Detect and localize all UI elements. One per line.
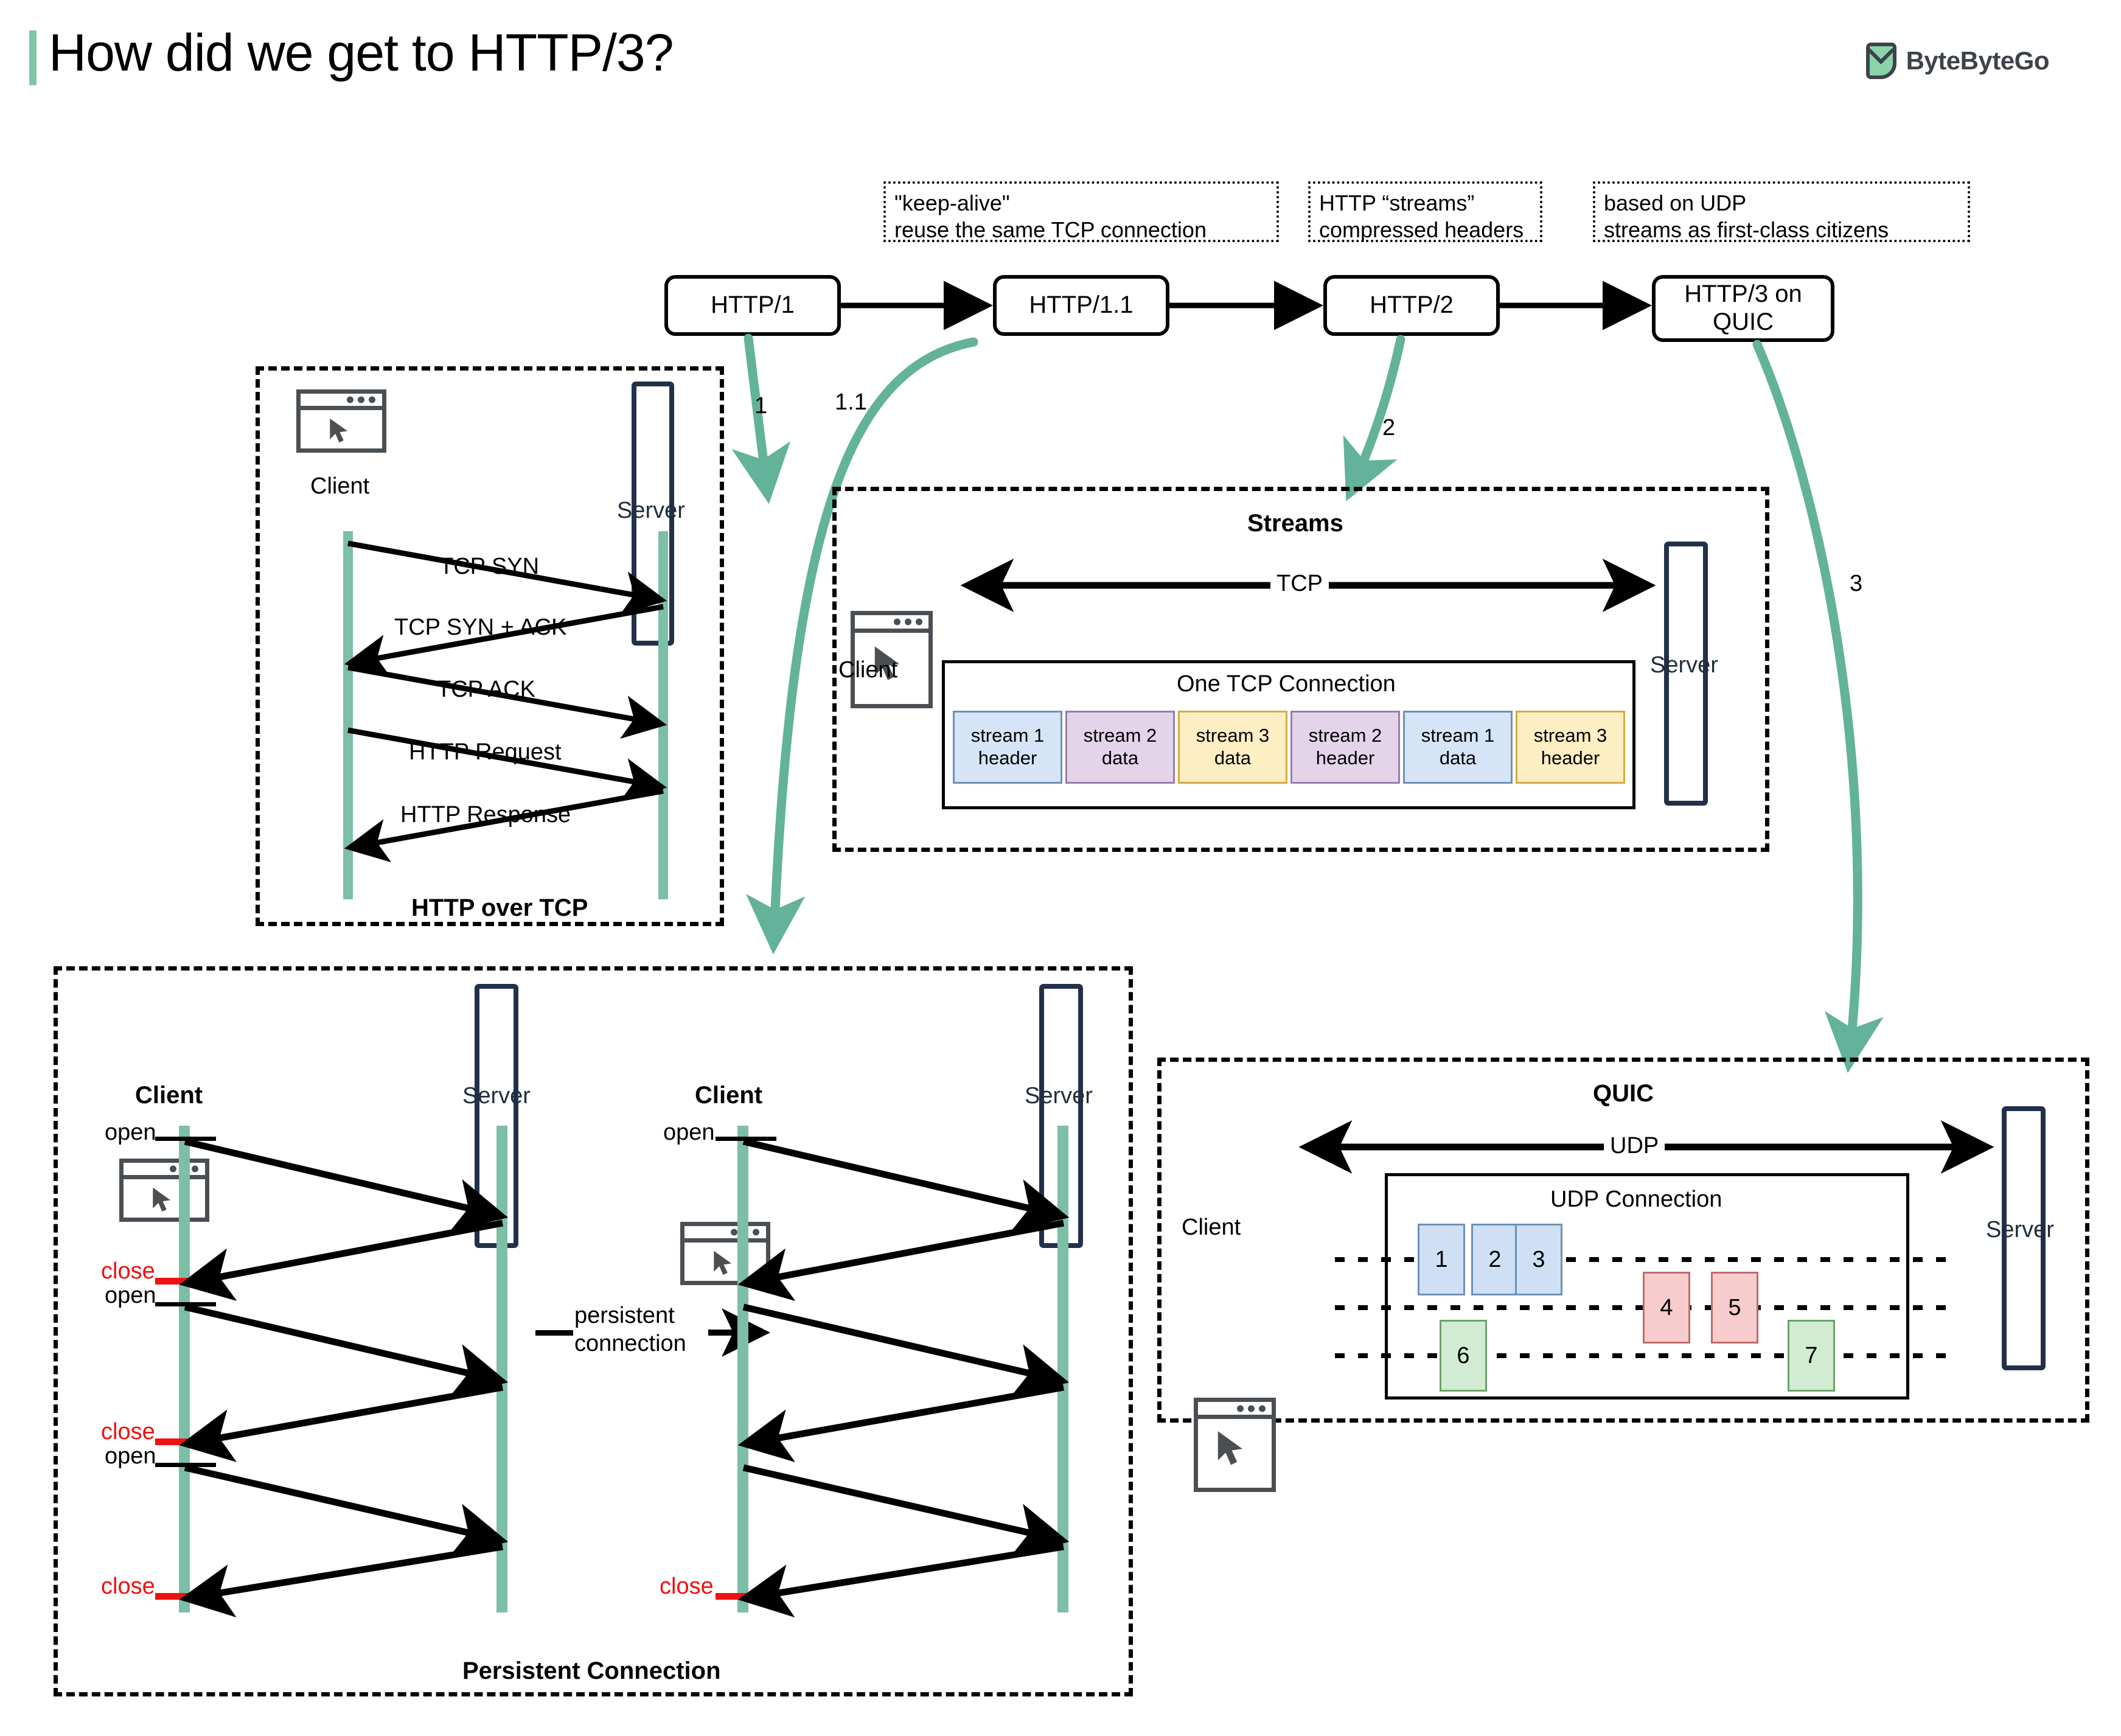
version-box-http3[interactable]: HTTP/3 on QUIC [1652,275,1834,342]
connector-label-3: 3 [1850,571,1862,597]
one-tcp-connection-title: One TCP Connection [1177,671,1396,697]
stream-chip-line2: data [1440,747,1476,770]
stream-chip-line2: header [978,747,1037,770]
client-label-1: Client [310,473,369,500]
connector-label-1: 1 [754,393,767,419]
stream-chip-1: stream 1header [953,711,1062,784]
server-label-5: Server [1986,1217,2054,1243]
browser-titlebar [684,1226,766,1243]
browser-titlebar [855,615,928,633]
close-tick-3 [155,1593,216,1600]
stream-chip-line1: stream 3 [1534,725,1607,747]
event-label-open-2: open [105,1283,156,1309]
page-title: How did we get to HTTP/3? [49,23,674,83]
note-http2: HTTP “streams” compressed headers [1308,181,1542,242]
msg-label-http-response: HTTP Response [400,802,571,828]
cursor-icon [1213,1427,1251,1469]
cursor-icon [706,1249,742,1277]
browser-dots-icon [1237,1405,1266,1412]
open-tick-1 [155,1137,216,1141]
connector-label-2: 2 [1382,415,1395,441]
client-lifeline-3 [179,1126,190,1612]
stream-chip-line1: stream 3 [1196,725,1270,747]
stream-chip-2: stream 2data [1065,711,1175,784]
stream-chip-5: stream 1data [1403,711,1513,784]
msg-label-tcp-syn-ack: TCP SYN + ACK [394,615,566,641]
bytebytego-logo: ByteByteGo [1866,43,2049,79]
open-tick-4 [716,1137,776,1141]
client-label-3: Client [135,1082,203,1109]
close-tick-4 [716,1593,776,1600]
server-lifeline-1 [658,531,668,899]
logo-mark-icon [1866,43,1896,79]
quic-packet-7: 7 [1788,1320,1835,1392]
stream-chip-row: stream 1headerstream 2datastream 3datast… [953,711,1625,784]
client-browser-icon-1 [296,389,386,453]
persistent-dash-mark [535,1330,573,1336]
browser-titlebar [1198,1402,1272,1419]
quic-packet-2: 2 [1471,1224,1519,1295]
event-label-close-3: close [101,1574,155,1600]
event-label-open-4: open [663,1120,715,1146]
close-tick-1 [155,1278,216,1285]
browser-titlebar [124,1163,205,1179]
msg-label-tcp-ack: TCP ACK [437,677,535,703]
event-label-open-3: open [105,1443,156,1469]
open-tick-2 [155,1302,216,1306]
stream-chip-line1: stream 2 [1084,725,1157,747]
streams-caption: Streams [1247,510,1343,537]
version-box-http2[interactable]: HTTP/2 [1323,275,1500,336]
stream-chip-line2: header [1541,747,1600,770]
client-label-2: Client [838,657,897,683]
quic-caption: QUIC [1593,1080,1654,1107]
server-label-3: Server [462,1083,531,1109]
event-label-close-4: close [660,1574,714,1600]
http-over-tcp-caption: HTTP over TCP [411,894,588,922]
msg-label-tcp-syn: TCP SYN [439,554,539,580]
stream-chip-line2: data [1102,747,1138,770]
title-accent-bar [29,30,37,85]
persistent-connection-label: persistent connection [574,1302,686,1358]
stream-chip-4: stream 2header [1290,711,1400,784]
server-lifeline-3 [496,1126,507,1612]
stream-chip-6: stream 3header [1516,711,1625,784]
client-browser-icon-4 [680,1222,770,1285]
persistent-connection-caption: Persistent Connection [462,1658,721,1685]
quic-packet-4: 4 [1643,1272,1690,1344]
stream-chip-3: stream 3data [1178,711,1287,784]
logo-wordmark: ByteByteGo [1906,46,2049,75]
quic-packet-1: 1 [1418,1224,1465,1295]
note-http3: based on UDP streams as first-class citi… [1593,181,1970,242]
event-label-close-2: close [101,1419,155,1445]
client-lifeline-4 [737,1126,748,1612]
version-box-http11[interactable]: HTTP/1.1 [993,275,1169,336]
quic-packet-3: 3 [1515,1224,1562,1295]
server-label-4: Server [1025,1083,1093,1109]
open-tick-3 [155,1463,216,1467]
client-lifeline-1 [343,531,353,899]
client-browser-icon-3 [119,1159,209,1222]
browser-dots-icon [894,619,922,626]
udp-connection-title: UDP Connection [1550,1187,1722,1213]
event-label-close-1: close [101,1258,155,1285]
note-http11: "keep-alive" reuse the same TCP connecti… [883,181,1279,242]
browser-titlebar [301,394,382,410]
event-label-open-1: open [105,1120,156,1146]
client-browser-icon-5 [1194,1398,1276,1492]
quic-packet-6: 6 [1440,1320,1487,1392]
client-label-4: Client [695,1082,762,1109]
server-label-2: Server [1650,652,1718,678]
version-box-http1[interactable]: HTTP/1 [664,275,841,336]
stream-chip-line2: header [1316,747,1375,770]
server-lifeline-4 [1057,1126,1068,1612]
quic-transport-label: UDP [1604,1133,1665,1159]
browser-dots-icon [347,397,375,403]
stream-chip-line1: stream 1 [971,725,1045,747]
stream-chip-line1: stream 2 [1309,725,1382,747]
client-label-5: Client [1182,1215,1241,1241]
close-tick-2 [155,1438,216,1445]
msg-label-http-request: HTTP Request [409,739,562,765]
diagram-canvas: How did we get to HTTP/3? ByteByteGo "ke… [0,0,2121,1736]
server-label-1: Server [617,498,685,524]
connector-label-1-1: 1.1 [835,389,867,416]
cursor-icon [322,417,358,444]
quic-packet-5: 5 [1711,1272,1758,1344]
cursor-icon [145,1186,181,1213]
stream-chip-line1: stream 1 [1421,725,1495,747]
stream-chip-line2: data [1214,747,1251,770]
streams-transport-label: TCP [1270,571,1329,597]
